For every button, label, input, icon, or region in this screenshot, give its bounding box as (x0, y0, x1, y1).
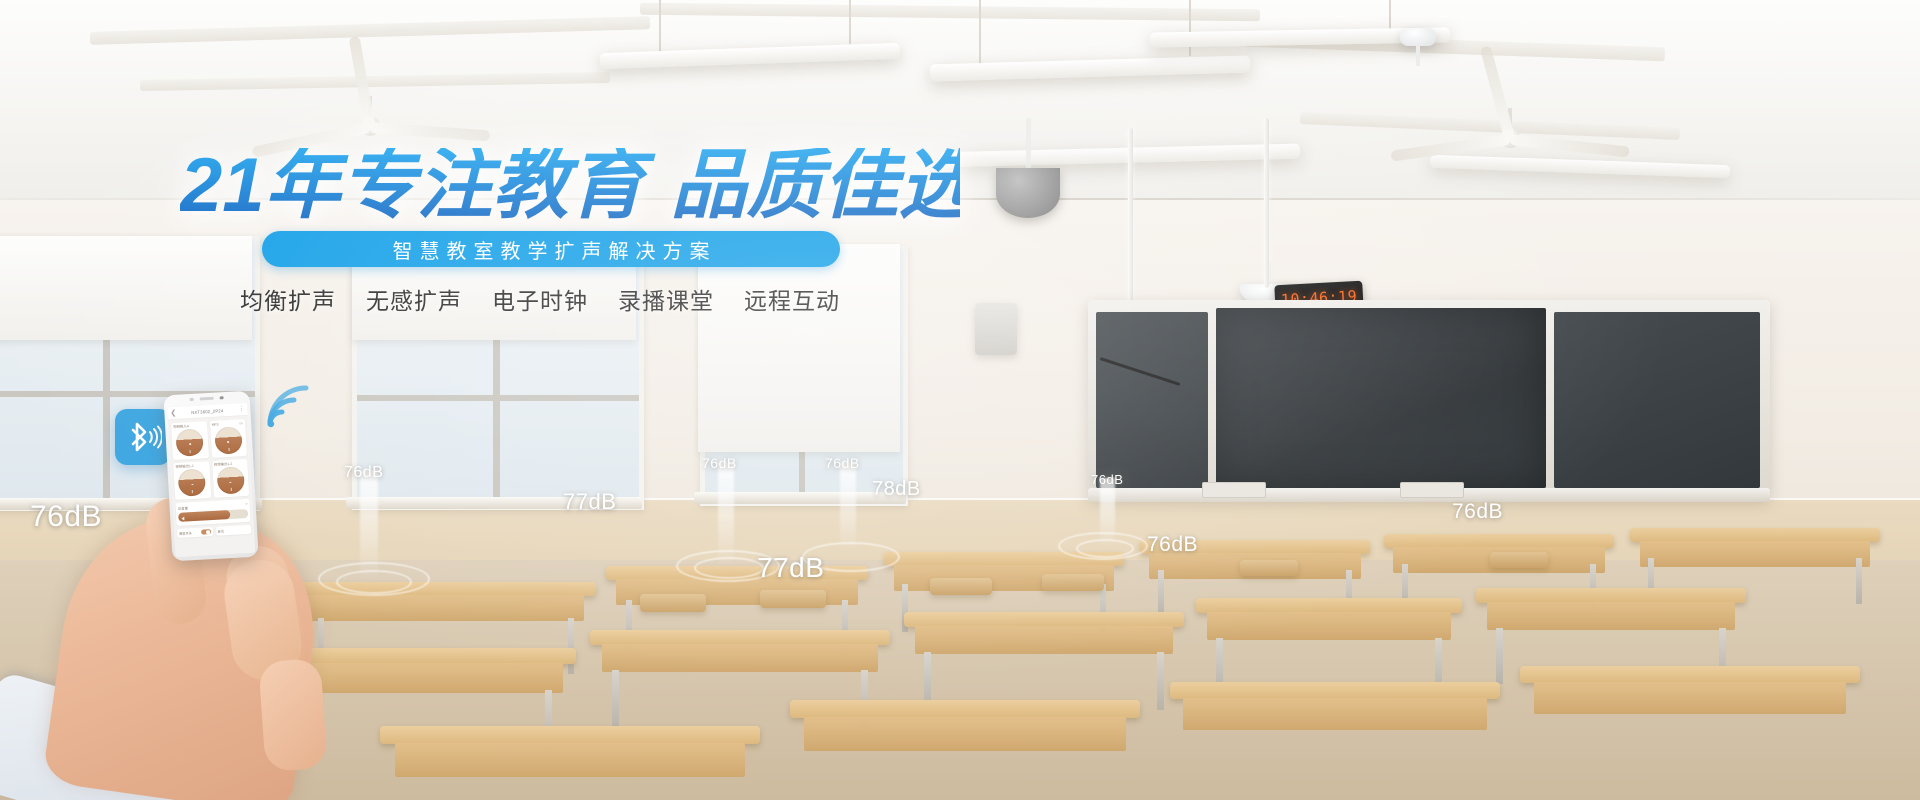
mute-toggle[interactable] (201, 530, 211, 536)
feature-item-1: 无感扩声 (366, 282, 462, 316)
sensor-stem (1416, 44, 1420, 66)
db-marker: 76dB (344, 464, 383, 482)
student-desk (590, 630, 890, 692)
blackboard-control-panel (1400, 482, 1464, 498)
phone-front-camera (220, 396, 224, 400)
knob-card-badge: ON (239, 422, 243, 425)
knob-card-grid: 视频输入A MP3ON 视频输出1-1 视频输出1-2 (168, 416, 253, 504)
student-desk (1476, 588, 1746, 644)
master-volume-row[interactable]: 总音量 + (175, 499, 250, 526)
student-desk (1170, 682, 1500, 752)
db-value: 76dB (1091, 472, 1123, 487)
window-blind (698, 244, 900, 452)
smartphone[interactable]: ❮ NXT3602_2P24 ⋮ 视频输入A MP3ON 视频输出1-1 (163, 391, 258, 562)
wall-control-box (975, 303, 1017, 355)
db-marker: 77dB (563, 489, 616, 515)
blackboard-control-panel (1202, 482, 1266, 498)
master-volume-slider[interactable] (178, 509, 248, 522)
knob-card-label: MP3 (212, 423, 219, 427)
student-chair (760, 590, 826, 608)
volume-knob[interactable] (216, 467, 244, 495)
blackboard-center (1216, 308, 1546, 488)
db-value: 76dB (30, 500, 102, 533)
knob-card[interactable]: 视频输出1-2 (212, 459, 250, 498)
master-volume-label: 总音量 (178, 505, 188, 511)
subtitle-text: 智慧教室教学扩声解决方案 (386, 235, 717, 264)
feature-item-0: 均衡扩声 (240, 282, 336, 316)
db-marker: 76dB (30, 500, 102, 534)
db-marker: 78dB (872, 478, 921, 501)
db-value: 76dB (702, 455, 737, 471)
volume-knob[interactable] (178, 469, 206, 497)
db-value: 76dB (344, 464, 383, 481)
bluetooth-badge[interactable] (115, 409, 171, 465)
db-value: 76dB (1147, 533, 1198, 556)
student-desk (246, 648, 576, 714)
student-chair (1490, 552, 1548, 568)
app-bottom-buttons: 静音开关 复位 (174, 525, 255, 541)
banner-stage: 10:46:19 (0, 0, 1920, 800)
pendant-light (600, 0, 900, 120)
student-chair (640, 594, 706, 612)
student-desk (380, 726, 760, 800)
chevron-left-icon[interactable]: ❮ (170, 409, 176, 416)
pendant-light (1150, 0, 1450, 100)
db-value: 76dB (1452, 500, 1503, 523)
bluetooth-icon (124, 420, 162, 454)
speaker-stem (1026, 118, 1031, 172)
sound-ripple (336, 570, 412, 594)
phone-screen[interactable]: ❮ NXT3602_2P24 ⋮ 视频输入A MP3ON 视频输出1-1 (167, 403, 255, 557)
slider-fill (178, 510, 230, 522)
phone-sensor (190, 398, 194, 401)
reset-button-label: 复位 (217, 529, 224, 534)
feature-item-4: 远程互动 (744, 282, 840, 316)
db-value: 78dB (872, 478, 921, 500)
ceiling-speaker (996, 168, 1060, 218)
db-marker: 76dB (702, 455, 737, 471)
student-chair (1240, 560, 1298, 576)
student-desk (790, 700, 1140, 772)
headline-secondary: 品质佳选 (671, 143, 975, 228)
sound-ripple (694, 557, 764, 579)
db-marker: 76dB (1091, 472, 1123, 487)
student-desk (1196, 598, 1462, 654)
volume-knob[interactable] (214, 426, 242, 454)
app-title: NXT3602_2P24 (179, 407, 235, 415)
db-value: 77dB (563, 489, 616, 514)
knob-card[interactable]: MP3ON (209, 419, 247, 458)
knob-card[interactable]: 视频输出1-1 (173, 461, 211, 500)
plus-icon[interactable]: + (246, 502, 248, 507)
db-marker: 76dB (825, 455, 860, 471)
blackboard-left-wing (1096, 312, 1208, 488)
student-chair (930, 578, 992, 595)
volume-knob[interactable] (176, 429, 204, 457)
student-desk (1520, 666, 1860, 736)
db-value: 76dB (825, 455, 860, 471)
sound-ripple (1076, 539, 1134, 558)
blackboard-right-wing (1554, 312, 1760, 488)
phone-earpiece (200, 397, 214, 400)
feature-list: 均衡扩声 无感扩声 电子时钟 录播课堂 远程互动 (240, 283, 900, 315)
microphone-pole (1264, 118, 1269, 288)
subtitle-pill: 智慧教室教学扩声解决方案 (262, 231, 840, 267)
db-marker: 76dB (1147, 533, 1198, 557)
student-desk (1630, 528, 1880, 578)
knob-card[interactable]: 视频输入A (171, 421, 209, 460)
db-marker: 76dB (1452, 500, 1503, 524)
wifi-signal-icon (264, 378, 320, 430)
mute-button[interactable]: 静音开关 (177, 527, 213, 538)
student-chair (1042, 574, 1104, 591)
mute-button-label: 静音开关 (179, 531, 192, 537)
feature-item-2: 电子时钟 (492, 282, 588, 316)
reset-button[interactable]: 复位 (215, 525, 251, 536)
db-value: 77dB (757, 552, 824, 583)
feature-item-3: 录播课堂 (618, 282, 714, 316)
window-blind (0, 236, 252, 340)
ceiling-fan (1390, 108, 1630, 168)
student-desk (904, 612, 1184, 670)
pendant-light (940, 130, 1300, 190)
page-title: 21年专注教育品质佳选 (180, 148, 960, 224)
headline-primary: 21年专注教育 (180, 143, 645, 228)
more-vertical-icon[interactable]: ⋮ (238, 406, 244, 412)
db-marker: 77dB (757, 552, 824, 584)
